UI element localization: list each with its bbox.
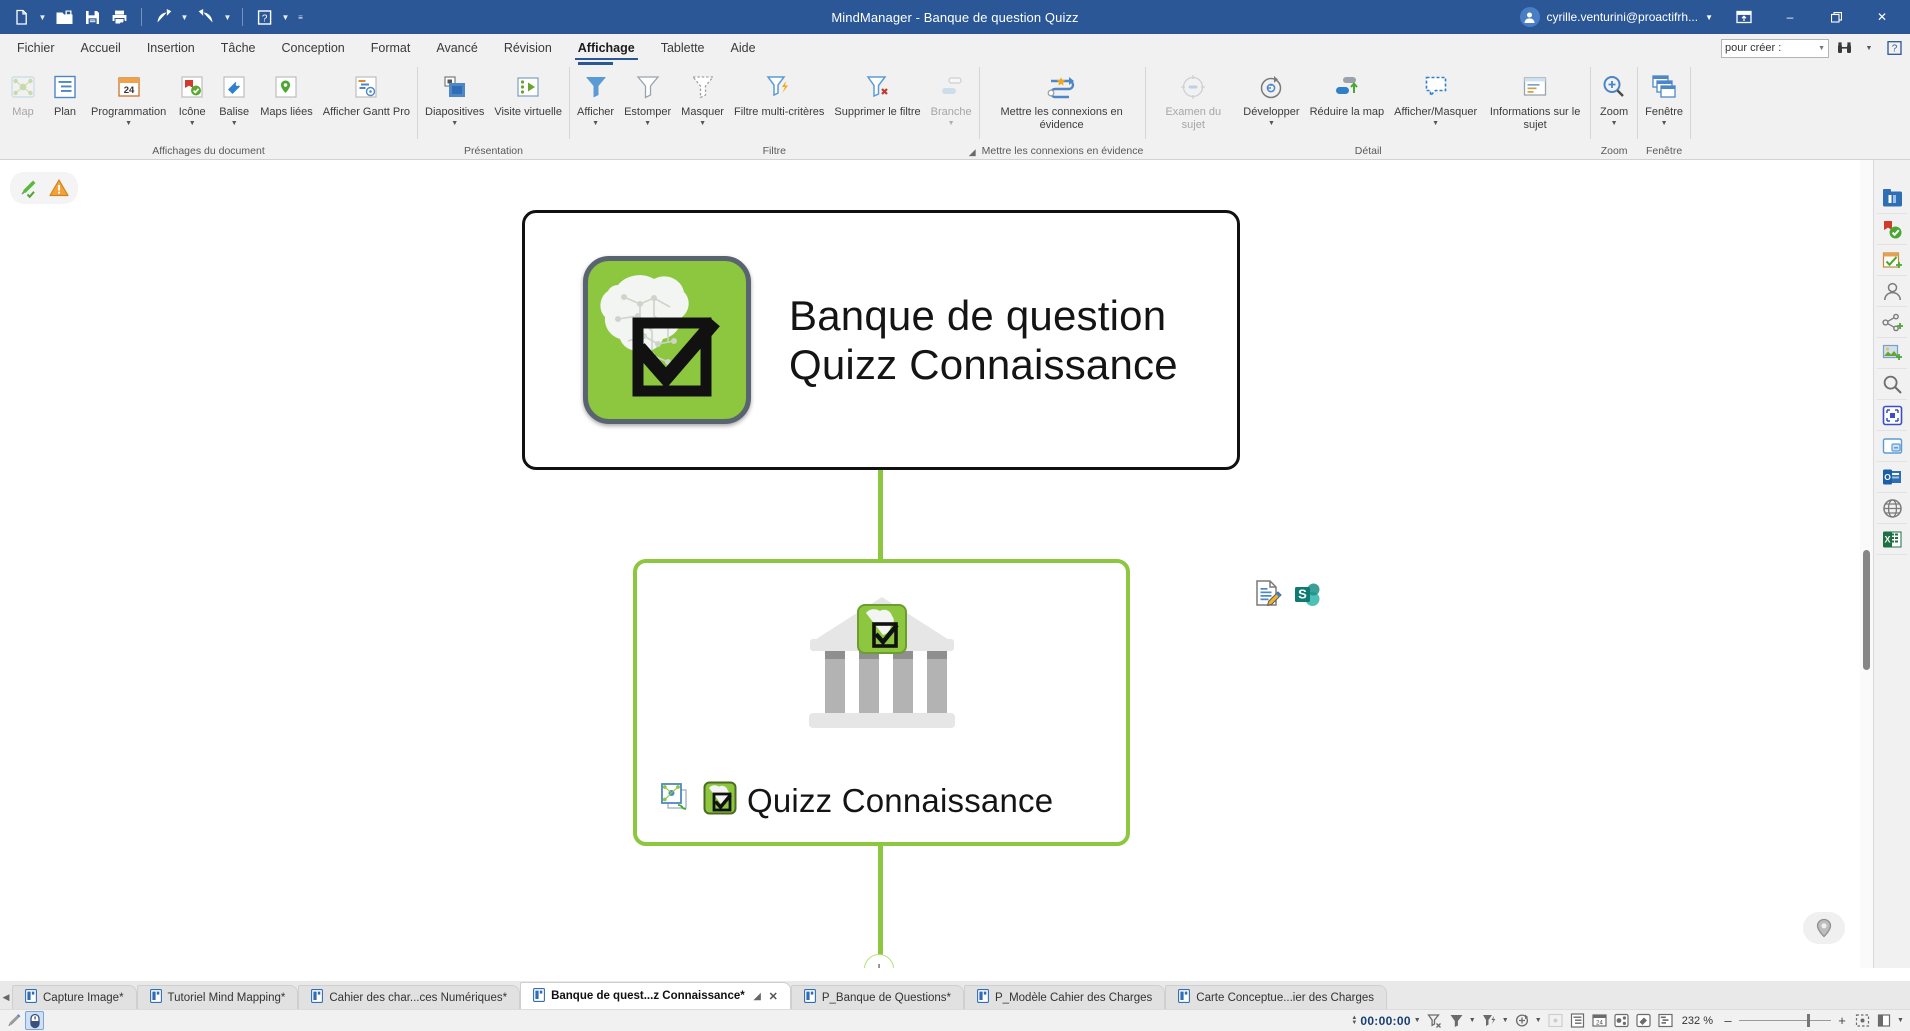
ribbon-button-zoom-label: Zoom: [1600, 106, 1628, 119]
canvas-vertical-scrollbar[interactable]: [1860, 160, 1873, 968]
windows-cascade-icon: [1650, 70, 1678, 104]
avatar: [1520, 7, 1540, 27]
tab-fichier[interactable]: Fichier: [4, 37, 68, 59]
ribbon-button-afficher[interactable]: Afficher ▼: [572, 67, 619, 128]
ribbon-button-map[interactable]: Map: [2, 67, 44, 119]
qat-separator: [141, 8, 142, 26]
child-topic-row: Quizz Connaissance: [659, 781, 1053, 820]
minimize-button[interactable]: –: [1768, 1, 1812, 33]
child-topic-text: Quizz Connaissance: [747, 782, 1053, 820]
doc-tab-label: Tutoriel Mind Mapping*: [168, 992, 286, 1004]
brain-checkbox-icon-small[interactable]: [703, 781, 737, 820]
layout-icon[interactable]: [1875, 1011, 1894, 1030]
zoom-percent-value: 232 %: [1678, 1015, 1717, 1027]
doc-tab-pin-icon[interactable]: ◢: [754, 991, 761, 1002]
funnel-hide-icon: [689, 70, 717, 104]
vertical-scroll-thumb[interactable]: [1863, 550, 1870, 670]
status-right-tools: ▲▼ 00:00:00 ▼ ▼ ▼ ▼: [1351, 1011, 1910, 1030]
map-locator-button[interactable]: [1803, 912, 1845, 944]
collapse-map-icon: [1333, 70, 1361, 104]
tab-revision[interactable]: Révision: [491, 37, 565, 59]
ribbon-group-affichages-du-document: Map Plan 24 Programmation ▼: [0, 62, 417, 159]
ribbon-button-diapositives[interactable]: Diapositives ▼: [420, 67, 489, 128]
outline-view-icon[interactable]: [1568, 1011, 1587, 1030]
ribbon-button-masquer[interactable]: Masquer ▼: [676, 67, 729, 128]
account-name: cyrille.venturini@proactifrh...: [1547, 10, 1699, 24]
tab-format[interactable]: Format: [358, 37, 424, 59]
connector-child-to-add: [878, 845, 883, 965]
restore-button[interactable]: [1814, 1, 1858, 33]
ribbon-button-plan[interactable]: Plan: [44, 67, 86, 119]
gantt-view-icon[interactable]: [1656, 1011, 1675, 1030]
outline-view-icon: [52, 70, 78, 104]
ribbon-group-filtre: Afficher ▼ Estomper ▼ Masquer ▼: [570, 62, 979, 159]
doc-tab-banque-de-questions-quizz-connaissance[interactable]: Banque de quest...z Connaissance* ◢ ✕: [520, 982, 791, 1009]
tab-conception[interactable]: Conception: [269, 37, 358, 59]
funnel-filled-icon: [582, 70, 610, 104]
map-view-icon: [10, 70, 36, 104]
doc-tab-capture-image[interactable]: Capture Image*: [12, 985, 137, 1009]
filter-dropdown-icon[interactable]: ▼: [1469, 1017, 1477, 1024]
search-icon[interactable]: [1877, 370, 1907, 400]
close-button[interactable]: ✕: [1860, 1, 1904, 33]
account-dropdown-icon[interactable]: ▼: [1705, 13, 1713, 22]
ribbon-button-diapositives-label: Diapositives: [425, 106, 484, 119]
ribbon-button-reduire-la-map[interactable]: Réduire la map: [1305, 67, 1390, 119]
diapositives-dropdown-icon[interactable]: ▼: [451, 119, 458, 128]
qat-more-icon[interactable]: ≡: [294, 13, 307, 22]
new-document-dropdown-icon[interactable]: ▼: [36, 13, 49, 22]
ribbon-group-presentation: Diapositives ▼ Visite virtuelle Présenta…: [418, 62, 569, 159]
ribbon-button-afficher-gantt-pro[interactable]: Afficher Gantt Pro: [318, 67, 415, 119]
brain-checkbox-icon: [583, 256, 751, 424]
tell-me-input[interactable]: pour créer : ▼: [1721, 39, 1829, 58]
ribbon-button-branche-label: Branche: [931, 106, 972, 119]
ribbon-button-programmation[interactable]: 24 Programmation ▼: [86, 67, 171, 128]
timer-spinner-icon[interactable]: ▲▼: [1351, 1016, 1357, 1026]
ribbon-button-filtre-multi-criteres[interactable]: Filtre multi-critères: [729, 67, 829, 119]
svg-text:?: ?: [261, 13, 267, 24]
quick-access-toolbar: ▼ ▼ ▼ ? ▼ ≡: [0, 4, 307, 30]
ribbon-button-mettre-connexions-label: Mettre les connexions en évidence: [987, 106, 1137, 131]
web-browser-icon[interactable]: [1877, 494, 1907, 524]
funnel-fade-icon: [634, 70, 662, 104]
ribbon-button-balise-label: Balise: [219, 106, 249, 119]
ribbon-button-afficher-masquer[interactable]: Afficher/Masquer ▼: [1389, 67, 1482, 128]
doc-tab-label: Carte Conceptue...ier des Charges: [1196, 992, 1374, 1004]
ribbon-button-visite-virtuelle[interactable]: Visite virtuelle: [489, 67, 567, 119]
bank-building-icon: [803, 591, 961, 741]
layout-dropdown-icon[interactable]: ▼: [1897, 1017, 1905, 1024]
ribbon-button-informations-sur-le-sujet-label: Informations sur le sujet: [1487, 106, 1583, 131]
slides-icon: [442, 70, 468, 104]
filter-clear-icon[interactable]: [1425, 1011, 1444, 1030]
ribbon-button-plan-label: Plan: [54, 106, 76, 119]
title-bar: ▼ ▼ ▼ ? ▼ ≡ Min: [0, 0, 1910, 34]
right-task-sidebar: O X: [1873, 160, 1910, 968]
ribbon-button-estomper[interactable]: Estomper ▼: [619, 67, 676, 128]
filter-power-icon[interactable]: [1480, 1011, 1499, 1030]
zoom-out-button[interactable]: –: [1720, 1014, 1736, 1027]
ribbon-button-filtre-multi-criteres-label: Filtre multi-critères: [734, 106, 824, 119]
outlook-icon[interactable]: O: [1877, 463, 1907, 493]
child-topic-quizz-connaissance[interactable]: Quizz Connaissance: [633, 559, 1130, 846]
fit-map-icon[interactable]: [1546, 1011, 1565, 1030]
save-document-button[interactable]: [79, 4, 105, 30]
ribbon-button-programmation-label: Programmation: [91, 106, 166, 119]
zoom-in-magnifier-icon: [1600, 70, 1628, 104]
branch-icon: [937, 70, 965, 104]
calendar-task-icon[interactable]: [1877, 246, 1907, 276]
icone-dropdown-icon[interactable]: ▼: [189, 119, 196, 128]
map-link-icon[interactable]: [659, 781, 693, 820]
redo-dropdown-icon[interactable]: ▼: [221, 13, 234, 22]
zoom-slider-track[interactable]: [1739, 1020, 1831, 1021]
ribbon-button-examen-du-sujet-label: Examen du sujet: [1153, 106, 1233, 131]
ribbon-button-supprimer-le-filtre[interactable]: Supprimer le filtre: [829, 67, 925, 119]
ribbon-button-informations-sur-le-sujet[interactable]: Informations sur le sujet: [1482, 67, 1588, 131]
timer-value: 00:00:00: [1360, 1014, 1410, 1028]
open-document-button[interactable]: [51, 4, 77, 30]
pen-check-icon[interactable]: [17, 176, 41, 200]
ribbon-group-label-detail: Détail: [1148, 144, 1588, 159]
tab-accueil[interactable]: Accueil: [68, 37, 134, 59]
svg-text:24: 24: [123, 85, 134, 96]
svg-text:?: ?: [1891, 43, 1897, 54]
tag-view-icon[interactable]: [1634, 1011, 1653, 1030]
document-icon: [150, 989, 162, 1006]
doc-tab-label: P_Modèle Cahier des Charges: [995, 992, 1152, 1004]
status-bar: ▲▼ 00:00:00 ▼ ▼ ▼ ▼: [0, 1009, 1910, 1031]
svg-text:X: X: [1884, 535, 1890, 545]
ribbon-button-developper-label: Développer: [1243, 106, 1299, 119]
focus-target-icon[interactable]: [1513, 1011, 1532, 1030]
excel-icon[interactable]: X: [1877, 525, 1907, 555]
focus-dropdown-icon[interactable]: ▼: [1535, 1017, 1543, 1024]
group-separator-7: [1690, 67, 1691, 139]
ribbon-group-fenetre: Fenêtre ▼ Fenêtre: [1638, 62, 1690, 159]
canvas-quick-tools: [10, 172, 78, 204]
redo-button[interactable]: [193, 4, 219, 30]
doc-tab-p-banque-de-questions[interactable]: P_Banque de Questions*: [791, 985, 964, 1009]
timer-dropdown-icon[interactable]: ▼: [1414, 1017, 1422, 1024]
ribbon-button-fenetre-label: Fenêtre: [1645, 106, 1683, 119]
ribbon-button-icone-label: Icône: [179, 106, 206, 119]
estomper-dropdown-icon[interactable]: ▼: [644, 119, 651, 128]
ribbon-button-estomper-label: Estomper: [624, 106, 671, 119]
tag-icon: [221, 70, 247, 104]
titlebar-right: cyrille.venturini@proactifrh... ▼ – ✕: [1513, 1, 1910, 33]
topic-info-icon: [1521, 70, 1549, 104]
ribbon-button-reduire-la-map-label: Réduire la map: [1310, 106, 1385, 119]
ribbon-button-afficher-label: Afficher: [577, 106, 614, 119]
fit-to-window-icon[interactable]: [1853, 1011, 1872, 1030]
tab-aide[interactable]: Aide: [718, 37, 769, 59]
document-icon: [804, 989, 816, 1006]
ribbon-group-zoom: Zoom ▼ Zoom: [1591, 62, 1637, 159]
ribbon-group-connexions: Mettre les connexions en évidence Mettre…: [980, 62, 1146, 159]
doc-tab-label: Cahier des char...ces Numériques*: [329, 992, 507, 1004]
ribbon-button-visite-virtuelle-label: Visite virtuelle: [494, 106, 562, 119]
binoculars-icon[interactable]: [1834, 38, 1854, 58]
ribbon-button-branche[interactable]: Branche ▼: [926, 67, 977, 128]
tell-me-area: pour créer : ▼ ▼ ?: [1721, 38, 1910, 58]
tell-me-dropdown-caret-icon[interactable]: ▼: [1859, 38, 1879, 58]
status-left-tools: [0, 1011, 44, 1030]
help-question-icon[interactable]: ?: [1884, 38, 1904, 58]
schedule-24-icon: 24: [116, 70, 142, 104]
branche-dropdown-icon[interactable]: ▼: [948, 119, 955, 128]
doc-tab-close-icon[interactable]: ✕: [769, 990, 778, 1003]
ribbon-button-maps-liees-label: Maps liées: [260, 106, 313, 119]
pen-tool-icon[interactable]: [4, 1011, 23, 1030]
undo-button[interactable]: [150, 4, 176, 30]
ribbon-display-options-button[interactable]: [1722, 1, 1766, 33]
ribbon-group-label-zoom: Zoom: [1593, 144, 1635, 159]
filter-icon[interactable]: [1447, 1011, 1466, 1030]
document-icon: [311, 989, 323, 1006]
account-button[interactable]: cyrille.venturini@proactifrh... ▼: [1513, 4, 1721, 30]
print-preview-button[interactable]: [107, 4, 133, 30]
qat-separator-2: [242, 8, 243, 26]
funnel-remove-icon: [864, 70, 892, 104]
relationships-icon[interactable]: [1877, 308, 1907, 338]
contacts-icon[interactable]: [1877, 277, 1907, 307]
ribbon-button-examen-du-sujet[interactable]: Examen du sujet: [1148, 67, 1238, 131]
smart-map-icon[interactable]: [1612, 1011, 1631, 1030]
doc-tab-label: Banque de quest...z Connaissance*: [551, 990, 745, 1002]
ribbon-button-masquer-label: Masquer: [681, 106, 724, 119]
filtre-dialog-launcher[interactable]: ◢: [969, 147, 976, 158]
ribbon-button-map-label: Map: [12, 106, 33, 119]
svg-text:24: 24: [1596, 1021, 1603, 1027]
notes-edit-icon[interactable]: [1252, 578, 1282, 613]
ribbon-tab-bar: Fichier Accueil Insertion Tâche Concepti…: [0, 34, 1910, 62]
gantt-pro-icon: [353, 70, 379, 104]
svg-text:O: O: [1884, 472, 1891, 482]
tell-me-value: pour créer :: [1725, 42, 1781, 54]
map-canvas[interactable]: Banque de question Quizz Connaissance S: [0, 160, 1873, 968]
tab-affichage[interactable]: Affichage: [565, 37, 648, 59]
ribbon-button-afficher-gantt-pro-label: Afficher Gantt Pro: [323, 106, 410, 119]
show-hide-icon: [1422, 70, 1450, 104]
fenetre-dropdown-icon[interactable]: ▼: [1661, 119, 1668, 128]
balise-dropdown-icon[interactable]: ▼: [231, 119, 238, 128]
add-topic-button[interactable]: +: [864, 954, 894, 968]
ribbon-button-icone[interactable]: Icône ▼: [171, 67, 213, 128]
document-icon: [25, 989, 37, 1006]
tell-me-dropdown-icon[interactable]: ▼: [1818, 45, 1825, 52]
zoom-in-button[interactable]: +: [1834, 1014, 1850, 1027]
schedule-24-icon[interactable]: 24: [1590, 1011, 1609, 1030]
warning-triangle-icon[interactable]: [47, 176, 71, 200]
ribbon: Map Plan 24 Programmation ▼: [0, 62, 1910, 160]
doc-tab-label: P_Banque de Questions*: [822, 992, 951, 1004]
programmation-dropdown-icon[interactable]: ▼: [125, 119, 132, 128]
new-document-button[interactable]: [8, 4, 34, 30]
root-topic-line1: Banque de question: [789, 291, 1178, 340]
tab-insertion[interactable]: Insertion: [134, 37, 208, 59]
ribbon-button-afficher-masquer-label: Afficher/Masquer: [1394, 106, 1477, 119]
document-icon: [977, 989, 989, 1006]
ribbon-button-developper[interactable]: Développer ▼: [1238, 67, 1304, 128]
ribbon-button-fenetre[interactable]: Fenêtre ▼: [1640, 67, 1688, 128]
document-icon: [533, 988, 545, 1005]
doc-tab-carte-conceptuelle-cahier-des-charges[interactable]: Carte Conceptue...ier des Charges: [1165, 985, 1387, 1009]
icons-markers-icon[interactable]: [1877, 215, 1907, 245]
expand-icon: [1257, 70, 1285, 104]
zoom-slider[interactable]: [1739, 1020, 1831, 1021]
doc-tab-label: Capture Image*: [43, 992, 124, 1004]
document-icon: [1178, 989, 1190, 1006]
ribbon-button-zoom[interactable]: Zoom ▼: [1593, 67, 1635, 128]
images-icon[interactable]: [1877, 339, 1907, 369]
root-topic-text: Banque de question Quizz Connaissance: [789, 291, 1178, 389]
ribbon-group-label-fenetre: Fenêtre: [1640, 144, 1688, 159]
tab-tache[interactable]: Tâche: [208, 37, 269, 59]
root-topic-badges: S: [1252, 578, 1322, 613]
clipboard-panel-icon[interactable]: [1877, 432, 1907, 462]
tab-tablette[interactable]: Tablette: [648, 37, 718, 59]
icon-marker-icon: [179, 70, 205, 104]
svg-text:S: S: [1298, 587, 1307, 602]
topic-review-icon: [1179, 70, 1207, 104]
selection-icon[interactable]: [1877, 401, 1907, 431]
zoom-slider-thumb[interactable]: [1807, 1014, 1810, 1027]
ribbon-button-mettre-connexions-evidence[interactable]: Mettre les connexions en évidence: [982, 67, 1142, 131]
root-topic-line2: Quizz Connaissance: [789, 340, 1178, 389]
filter-power-dropdown-icon[interactable]: ▼: [1502, 1017, 1510, 1024]
linked-maps-icon: [273, 70, 299, 104]
ribbon-group-detail: Examen du sujet Développer ▼ Réduire la …: [1146, 62, 1590, 159]
ribbon-group-label-filtre: Filtre: [572, 144, 977, 159]
root-topic[interactable]: Banque de question Quizz Connaissance: [522, 210, 1240, 470]
undo-dropdown-icon[interactable]: ▼: [178, 13, 191, 22]
afficher-dropdown-icon[interactable]: ▼: [592, 119, 599, 128]
ribbon-button-balise[interactable]: Balise ▼: [213, 67, 255, 128]
sharepoint-icon[interactable]: S: [1292, 578, 1322, 613]
map-parts-icon[interactable]: [1877, 184, 1907, 214]
zoom-dropdown-icon[interactable]: ▼: [1611, 119, 1618, 128]
help-button[interactable]: ?: [251, 4, 277, 30]
doc-tab-tutoriel-mind-mapping[interactable]: Tutoriel Mind Mapping*: [137, 985, 299, 1009]
doctabs-scroll-left-icon[interactable]: ◀: [0, 992, 12, 1009]
masquer-dropdown-icon[interactable]: ▼: [699, 119, 706, 128]
ribbon-group-label-affichages: Affichages du document: [2, 144, 415, 159]
tab-avance[interactable]: Avancé: [423, 37, 490, 59]
afficher-masquer-dropdown-icon[interactable]: ▼: [1432, 119, 1439, 128]
mouse-select-icon[interactable]: [25, 1011, 44, 1030]
highlight-connections-icon: [1045, 70, 1079, 104]
document-tab-bar: ◀ Capture Image* Tutoriel Mind Mapping* …: [0, 981, 1910, 1009]
help-dropdown-icon[interactable]: ▼: [279, 13, 292, 22]
walkthrough-icon: [515, 70, 541, 104]
doc-tab-p-modele-cahier-des-charges[interactable]: P_Modèle Cahier des Charges: [964, 985, 1165, 1009]
ribbon-button-maps-liees[interactable]: Maps liées: [255, 67, 318, 119]
ribbon-button-supprimer-le-filtre-label: Supprimer le filtre: [834, 106, 920, 119]
doc-tab-cahier-des-charges-numeriques[interactable]: Cahier des char...ces Numériques*: [298, 985, 520, 1009]
developper-dropdown-icon[interactable]: ▼: [1268, 119, 1275, 128]
ribbon-group-label-presentation: Présentation: [420, 144, 567, 159]
funnel-power-icon: [765, 70, 793, 104]
ribbon-group-label-connexions: Mettre les connexions en évidence: [982, 144, 1144, 159]
